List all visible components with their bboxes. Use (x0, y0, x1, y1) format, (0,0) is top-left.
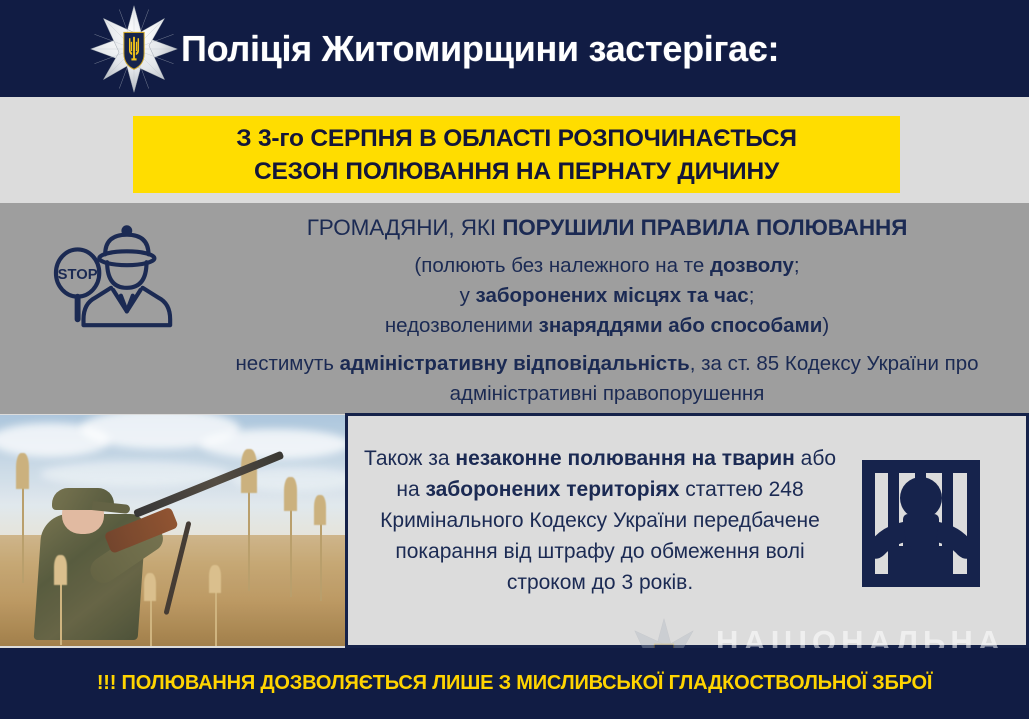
violation-item-3-b: ) (822, 314, 829, 337)
police-star-badge-icon (88, 3, 180, 95)
infographic-poster: Поліція Житомирщини застерігає: З 3-го С… (0, 0, 1029, 719)
liability-statement-b: , за ст. 85 Кодексу України про (690, 352, 979, 375)
banner-line-2: СЕЗОН ПОЛЮВАННЯ НА ПЕРНАТУ ДИЧИНУ (254, 155, 779, 188)
violation-item-1-a: (полюють без належного на те (414, 254, 710, 277)
criminal-text-bold-3: заборонених (425, 478, 560, 501)
violation-heading: ГРОМАДЯНИ, ЯКІ ПОРУШИЛИ ПРАВИЛА ПОЛЮВАНН… (185, 212, 1029, 243)
footer-warning-text: !!! ПОЛЮВАННЯ ДОЗВОЛЯЄТЬСЯ ЛИШЕ З МИСЛИВ… (0, 648, 1029, 719)
announcement-banner: З 3-го СЕРПНЯ В ОБЛАСТІ РОЗПОЧИНАЄТЬСЯ С… (133, 116, 900, 193)
criminal-text-bold-1: незаконне полювання на (455, 447, 716, 470)
criminal-liability-text: Також за незаконне полювання на тварин а… (360, 443, 840, 598)
violation-heading-bold: ПОРУШИЛИ ПРАВИЛА ПОЛЮВАННЯ (502, 215, 907, 240)
criminal-text-a: Також за (364, 447, 455, 470)
violation-item-3-bold: знаряддями або способами (539, 314, 823, 337)
criminal-text-l5: покарання від штрафу до обмеження (395, 540, 759, 563)
violation-item-2: у заборонених місцях та час; (185, 281, 1029, 311)
violation-item-2-b: ; (749, 284, 755, 307)
liability-statement-bold: адміністративну відповідальність (340, 352, 690, 375)
svg-text:STOP: STOP (58, 267, 98, 283)
criminal-text-bold-4: територіях (566, 478, 679, 501)
criminal-text-l4: Кодексу України передбачене (529, 509, 819, 532)
violation-item-1-b: ; (794, 254, 800, 277)
divider-horizontal-top (345, 413, 1029, 416)
violation-item-3: недозволеними знаряддями або способами) (185, 311, 1029, 341)
administrative-liability-text: ГРОМАДЯНИ, ЯКІ ПОРУШИЛИ ПРАВИЛА ПОЛЮВАНН… (185, 212, 1029, 409)
header-bar: Поліція Житомирщини застерігає: (0, 0, 1029, 97)
hunter-photo (0, 415, 345, 646)
criminal-text-bold-2: тварин (722, 447, 795, 470)
violation-item-2-bold: заборонених місцях та час (476, 284, 749, 307)
violation-item-3-a: недозволеними (385, 314, 539, 337)
banner-line-1: З 3-го СЕРПНЯ В ОБЛАСТІ РОЗПОЧИНАЄТЬСЯ (236, 122, 797, 155)
prisoner-behind-bars-icon (848, 448, 994, 594)
liability-statement: нестимуть адміністративну відповідальніс… (185, 349, 1029, 379)
violation-heading-plain: ГРОМАДЯНИ, ЯКІ (307, 215, 502, 240)
liability-statement-cont: адміністративні правопорушення (185, 379, 1029, 409)
policeman-stop-sign-icon: STOP (52, 216, 180, 334)
violation-item-2-a: у (460, 284, 476, 307)
liability-statement-a: нестимуть (235, 352, 339, 375)
divider-vertical (345, 413, 348, 648)
violation-item-1: (полюють без належного на те дозволу; (185, 251, 1029, 281)
header-title: Поліція Житомирщини застерігає: (181, 28, 779, 70)
violation-item-1-bold: дозволу (710, 254, 794, 277)
